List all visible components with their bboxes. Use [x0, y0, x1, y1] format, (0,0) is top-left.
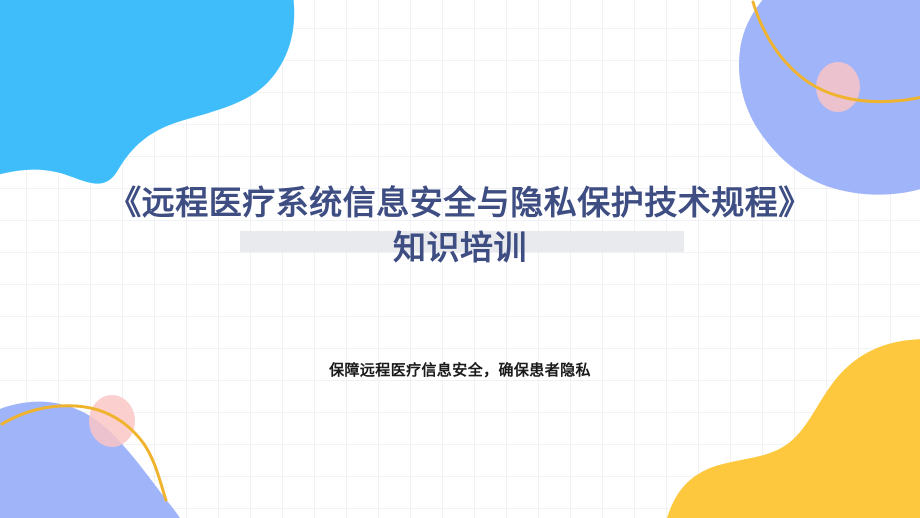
slide-subtitle: 保障远程医疗信息安全，确保患者隐私: [0, 360, 920, 382]
title-slide: 《远程医疗系统信息安全与隐私保护技术规程》 知识培训 保障远程医疗信息安全，确保…: [0, 0, 920, 518]
title-block: 《远程医疗系统信息安全与隐私保护技术规程》 知识培训: [0, 180, 920, 270]
page-title: 《远程医疗系统信息安全与隐私保护技术规程》 知识培训: [0, 180, 920, 270]
slide-content: 《远程医疗系统信息安全与隐私保护技术规程》 知识培训 保障远程医疗信息安全，确保…: [0, 0, 920, 518]
